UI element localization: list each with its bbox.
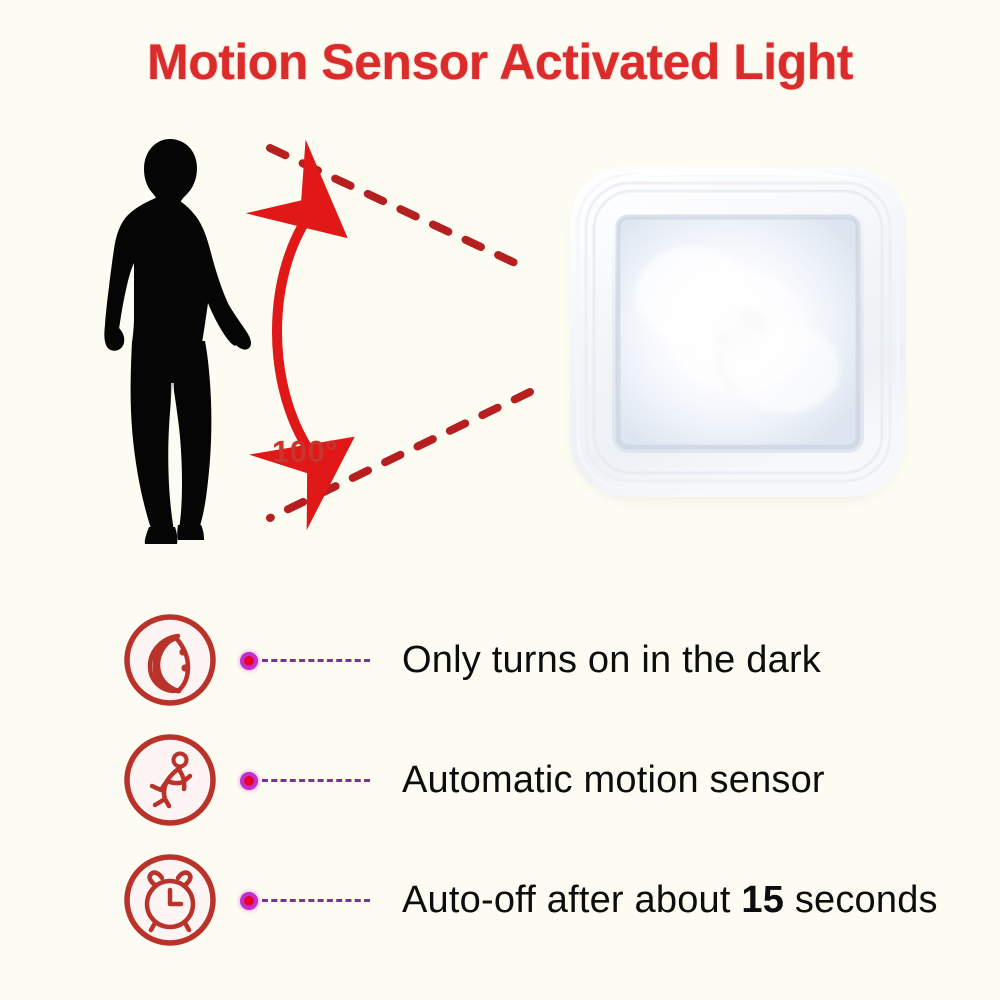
- connector-dot: [240, 892, 258, 910]
- detection-cone-diagram: [230, 130, 560, 560]
- feature-label-auto-off: Auto-off after about 15 seconds: [402, 879, 942, 922]
- alarm-clock-icon: [122, 852, 218, 948]
- running-person-icon: [122, 732, 218, 828]
- product-night-light-image: [552, 145, 924, 517]
- feature-row-dark-detection: Only turns on in the dark: [122, 608, 942, 712]
- connector-dot: [240, 652, 258, 670]
- product-infographic: Motion Sensor Activated Light: [0, 0, 1000, 1000]
- feature-text-pre: Only turns on in the dark: [402, 639, 821, 681]
- page-title: Motion Sensor Activated Light: [0, 33, 1000, 91]
- feature-list: Only turns on in the dark: [0, 600, 1000, 970]
- connector-dash: [262, 659, 370, 662]
- connector-dot: [240, 772, 258, 790]
- angle-arc-double-arrow: [277, 206, 316, 460]
- connector-line-auto-off: [240, 885, 380, 915]
- connector-dash: [262, 899, 370, 902]
- feature-text-pre: Auto-off after about: [402, 879, 741, 921]
- connector-dash: [262, 779, 370, 782]
- feature-text-post: seconds: [784, 879, 938, 921]
- moon-icon: [122, 612, 218, 708]
- connector-line-motion-sensor: [240, 765, 380, 795]
- feature-duration-value: 15: [741, 879, 784, 921]
- connector-line-dark-detection: [240, 645, 380, 675]
- hero-illustration: 100°: [0, 120, 1000, 570]
- feature-text-pre: Automatic motion sensor: [402, 759, 825, 801]
- feature-row-motion-sensor: Automatic motion sensor: [122, 728, 942, 832]
- feature-label-dark-detection: Only turns on in the dark: [402, 639, 942, 682]
- feature-label-motion-sensor: Automatic motion sensor: [402, 759, 942, 802]
- panel-highlight-center: [668, 271, 808, 391]
- feature-row-auto-off: Auto-off after about 15 seconds: [122, 848, 942, 952]
- detection-angle-label: 100°: [272, 434, 338, 470]
